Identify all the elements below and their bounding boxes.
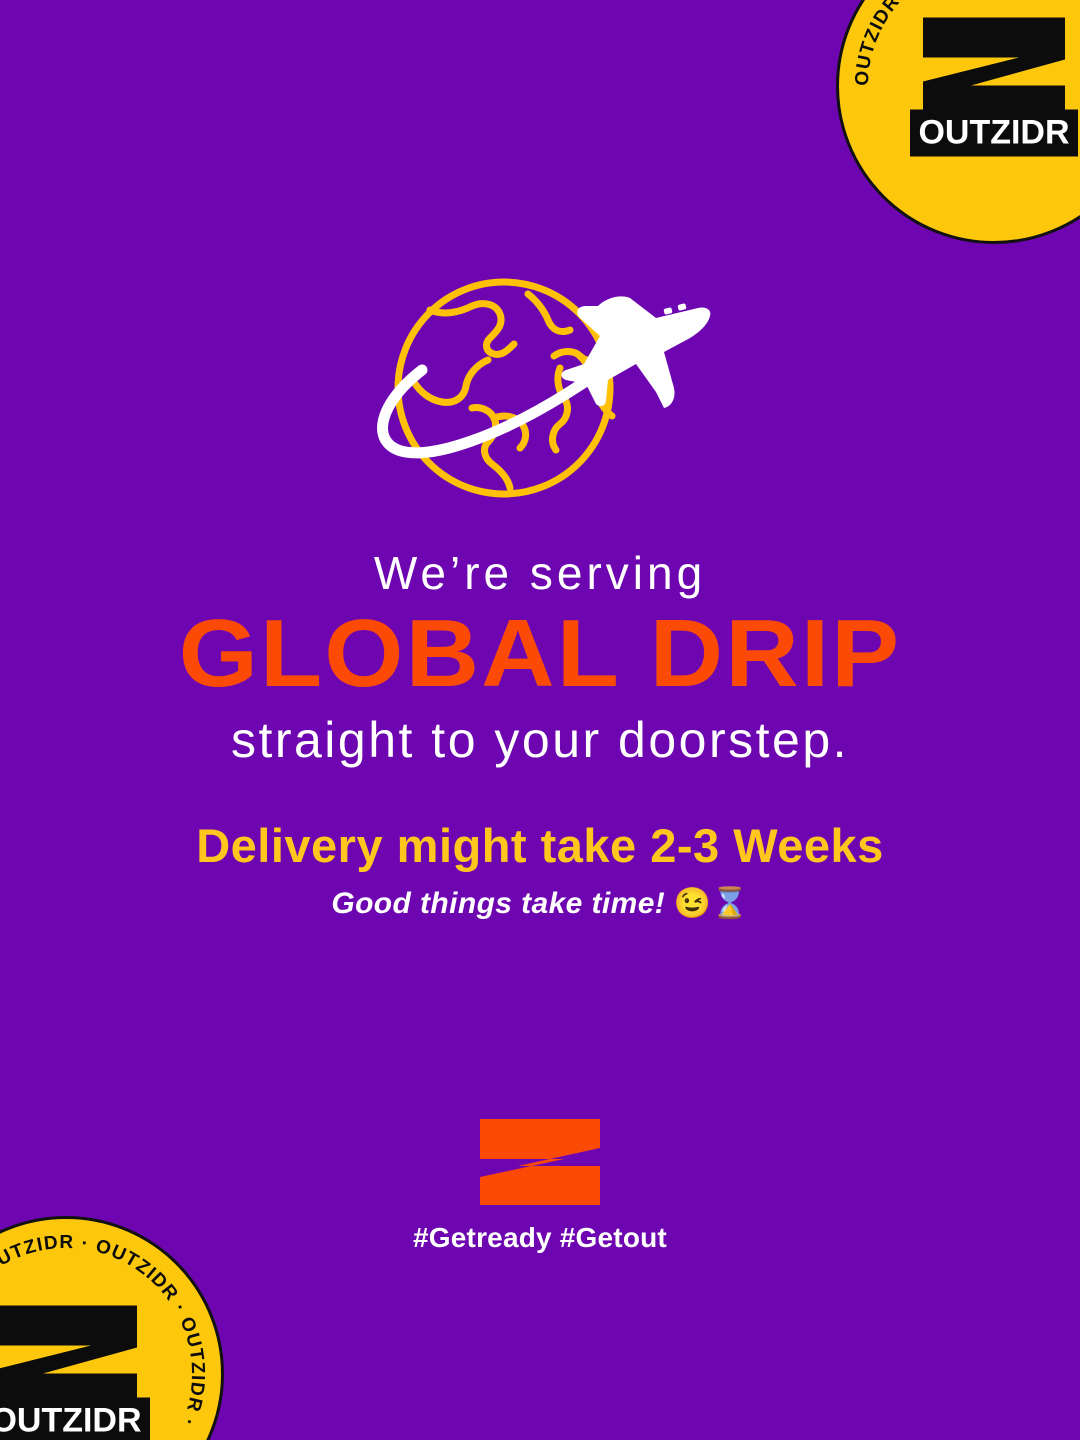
outzidr-z-logo-icon bbox=[478, 1118, 602, 1206]
eyebrow-text: We’re serving bbox=[0, 548, 1080, 600]
globe-with-airplane-icon bbox=[368, 272, 712, 504]
wink-hourglass-emoji: 😉⌛ bbox=[674, 887, 749, 920]
stamp-core-bottom-left: OUTZIDR bbox=[0, 1304, 155, 1440]
delivery-notice-block: Delivery might take 2-3 Weeks Good thing… bbox=[0, 820, 1080, 921]
delivery-notice-text: Delivery might take 2-3 Weeks bbox=[0, 820, 1080, 872]
poster-canvas: OUTZIDR · OUTZIDR · OUTZIDR · OUTZIDR · … bbox=[0, 0, 1080, 1440]
subline-text: straight to your doorstep. bbox=[0, 712, 1080, 770]
stamp-badge-bottom-left: OUTZIDR · OUTZIDR · OUTZIDR · OUTZIDR · … bbox=[0, 1216, 224, 1440]
delivery-tagline: Good things take time! 😉⌛ bbox=[0, 886, 1080, 921]
stamp-wordmark-tr: OUTZIDR bbox=[910, 110, 1077, 157]
stamp-core-top-right: OUTZIDR bbox=[905, 16, 1080, 157]
hashtags-text: #Getready #Getout bbox=[413, 1222, 667, 1254]
headline-block: We’re serving GLOBAL DRIP straight to yo… bbox=[0, 548, 1080, 769]
delivery-tagline-text: Good things take time! bbox=[331, 887, 665, 920]
headline-text: GLOBAL DRIP bbox=[0, 606, 1080, 702]
stamp-badge-top-right: OUTZIDR · OUTZIDR · OUTZIDR · OUTZIDR · … bbox=[836, 0, 1080, 244]
stamp-wordmark-bl: OUTZIDR bbox=[0, 1398, 150, 1440]
